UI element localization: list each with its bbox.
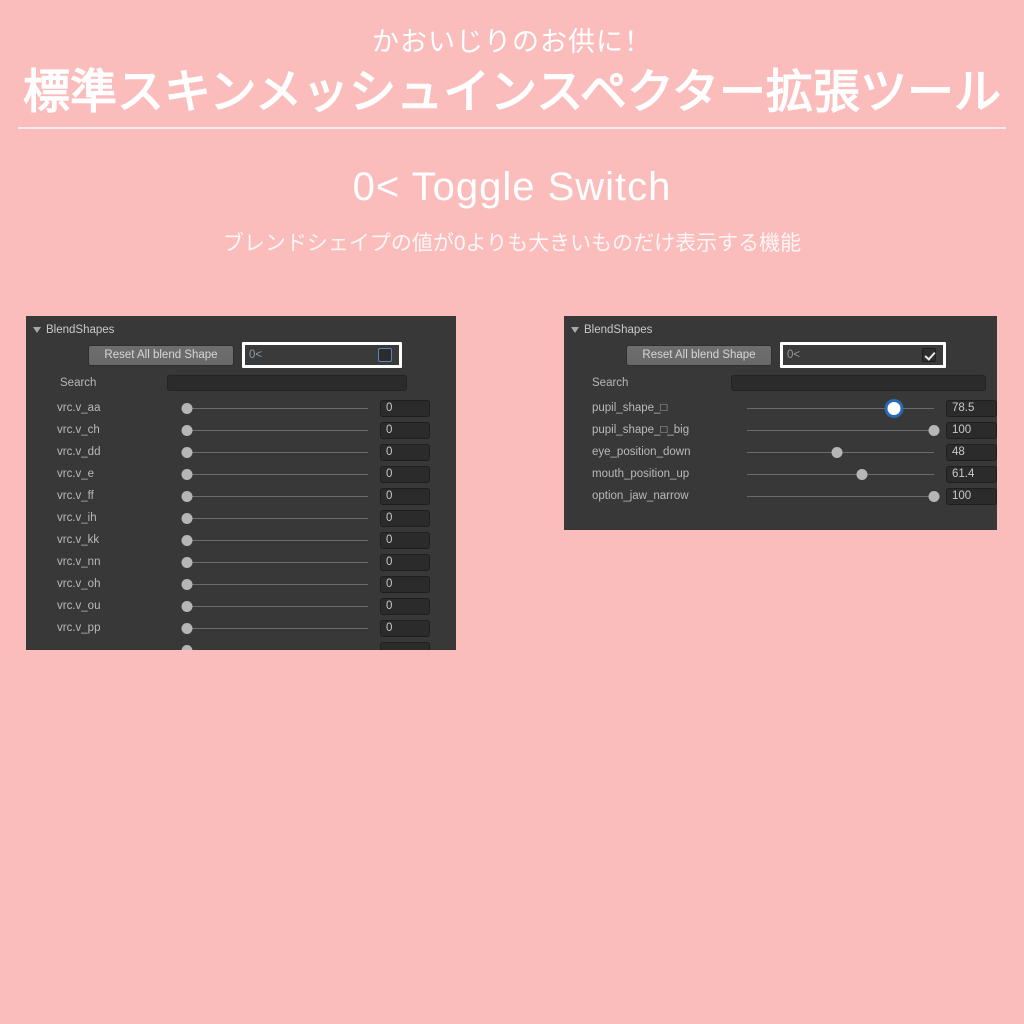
slider-handle[interactable]: [182, 645, 193, 651]
blendshape-slider[interactable]: [181, 555, 374, 569]
chevron-down-icon: [33, 327, 41, 333]
slider-handle[interactable]: [182, 491, 193, 502]
blendshape-name: vrc.v_aa: [26, 402, 181, 414]
slider-track: [187, 606, 368, 607]
blendshape-row: vrc.v_nn0: [26, 551, 456, 573]
blendshape-value-field[interactable]: 78.5: [946, 400, 997, 417]
blendshape-value-field[interactable]: 100: [946, 422, 997, 439]
blendshape-name: option_jaw_narrow: [564, 490, 741, 502]
blendshape-value-field[interactable]: 0: [380, 620, 430, 637]
blendshape-value-field[interactable]: 0: [380, 422, 430, 439]
zero-greater-toggle-highlight: 0<: [242, 342, 402, 368]
slider-handle[interactable]: [182, 623, 193, 634]
inspector-panel-left: BlendShapes Reset All blend Shape 0< Sea…: [26, 316, 456, 650]
zero-greater-toggle-label: 0<: [249, 349, 262, 361]
header-kicker: かおいじりのお供に！: [0, 26, 1024, 58]
slider-track: [187, 474, 368, 475]
slider-track: [187, 452, 368, 453]
slider-track: [747, 430, 934, 431]
search-label: Search: [564, 377, 731, 389]
blendshape-row: vrc.v_dd0: [26, 441, 456, 463]
section-title: 0< Toggle Switch: [0, 163, 1024, 211]
blendshapes-foldout[interactable]: BlendShapes: [564, 316, 997, 338]
blendshape-row: vrc.v_aa0: [26, 397, 456, 419]
zero-greater-checkbox[interactable]: [922, 348, 936, 362]
toolbar-row: Reset All blend Shape 0<: [564, 344, 997, 366]
blendshape-slider[interactable]: [181, 643, 374, 650]
blendshape-value-field[interactable]: 0: [380, 554, 430, 571]
blendshape-name: pupil_shape_□: [564, 402, 741, 414]
search-label: Search: [26, 377, 167, 389]
search-row: Search: [26, 374, 456, 392]
search-row: Search: [564, 374, 997, 392]
slider-track: [187, 496, 368, 497]
zero-greater-toggle-highlight: 0<: [780, 342, 946, 368]
chevron-down-icon: [571, 327, 579, 333]
title-divider: [18, 127, 1006, 129]
blendshape-name: mouth_position_up: [564, 468, 741, 480]
blendshape-slider[interactable]: [181, 489, 374, 503]
blendshape-value-field[interactable]: [380, 642, 430, 651]
blendshapes-foldout[interactable]: BlendShapes: [26, 316, 456, 338]
slider-track: [747, 474, 934, 475]
slider-handle[interactable]: [182, 469, 193, 480]
blendshape-slider[interactable]: [181, 445, 374, 459]
blendshape-slider[interactable]: [181, 423, 374, 437]
blendshape-value-field[interactable]: 61.4: [946, 466, 997, 483]
blendshape-value-field[interactable]: 0: [380, 444, 430, 461]
slider-handle[interactable]: [182, 535, 193, 546]
blendshape-row: vrc.v_ih0: [26, 507, 456, 529]
zero-greater-checkbox[interactable]: [378, 348, 392, 362]
slider-handle[interactable]: [182, 447, 193, 458]
blendshape-value-field[interactable]: 0: [380, 576, 430, 593]
blendshape-name: vrc.v_ch: [26, 424, 181, 436]
slider-track: [187, 584, 368, 585]
blendshape-value-field[interactable]: 0: [380, 532, 430, 549]
blendshape-name: vrc.v_oh: [26, 578, 181, 590]
blendshape-row: vrc.v_kk0: [26, 529, 456, 551]
blendshape-value-field[interactable]: 48: [946, 444, 997, 461]
zero-greater-toggle-row[interactable]: 0<: [783, 345, 943, 365]
slider-track: [187, 408, 368, 409]
blendshape-slider[interactable]: [181, 599, 374, 613]
blendshape-name: vrc.v_e: [26, 468, 181, 480]
blendshape-row: vrc.v_e0: [26, 463, 456, 485]
blendshape-row: vrc.v_ch0: [26, 419, 456, 441]
slider-track: [187, 540, 368, 541]
blendshape-slider[interactable]: [181, 401, 374, 415]
toolbar-row: Reset All blend Shape 0<: [26, 344, 456, 366]
slider-track: [187, 562, 368, 563]
blendshape-slider[interactable]: [741, 423, 940, 437]
inspector-panel-right: BlendShapes Reset All blend Shape 0< Sea…: [564, 316, 997, 530]
slider-handle[interactable]: [929, 491, 940, 502]
blendshape-row: vrc.v_oh0: [26, 573, 456, 595]
search-input[interactable]: [731, 375, 986, 391]
blendshape-row: vrc.v_ff0: [26, 485, 456, 507]
zero-greater-toggle-label: 0<: [787, 349, 800, 361]
blendshape-row: vrc.v_pp0: [26, 617, 456, 639]
slider-handle[interactable]: [182, 513, 193, 524]
blendshape-slider[interactable]: [741, 489, 940, 503]
blendshape-row: option_jaw_narrow100: [564, 485, 997, 507]
foldout-label: BlendShapes: [584, 324, 652, 336]
reset-all-blendshape-button[interactable]: Reset All blend Shape: [88, 345, 234, 366]
zero-greater-toggle-row[interactable]: 0<: [245, 345, 399, 365]
blendshape-name: vrc.v_ih: [26, 512, 181, 524]
blendshape-list-right: pupil_shape_□78.5pupil_shape_□_big100eye…: [564, 397, 997, 507]
blendshape-row: eye_position_down48: [564, 441, 997, 463]
slider-handle[interactable]: [856, 469, 867, 480]
blendshape-row: vrc.v_ou0: [26, 595, 456, 617]
blendshape-slider[interactable]: [741, 467, 940, 481]
blendshape-slider[interactable]: [741, 445, 940, 459]
blendshape-slider[interactable]: [741, 401, 940, 415]
blendshape-value-field[interactable]: 0: [380, 510, 430, 527]
search-input[interactable]: [167, 375, 407, 391]
blendshape-value-field[interactable]: 0: [380, 400, 430, 417]
blendshape-row: pupil_shape_□_big100: [564, 419, 997, 441]
blendshape-name: vrc.v_pp: [26, 622, 181, 634]
slider-handle[interactable]: [182, 557, 193, 568]
blendshape-name: vrc.v_ou: [26, 600, 181, 612]
blendshape-slider[interactable]: [181, 511, 374, 525]
slider-handle[interactable]: [887, 402, 900, 415]
blendshape-value-field[interactable]: 0: [380, 466, 430, 483]
slider-track: [747, 408, 934, 409]
slider-handle[interactable]: [182, 601, 193, 612]
blendshape-name: pupil_shape_□_big: [564, 424, 741, 436]
blendshape-name: eye_position_down: [564, 446, 741, 458]
blendshape-row: [26, 639, 456, 650]
slider-track: [747, 496, 934, 497]
slider-track: [187, 628, 368, 629]
slider-handle[interactable]: [182, 403, 193, 414]
reset-all-blendshape-button[interactable]: Reset All blend Shape: [626, 345, 772, 366]
blendshape-value-field[interactable]: 0: [380, 598, 430, 615]
blendshape-slider[interactable]: [181, 577, 374, 591]
blendshape-slider[interactable]: [181, 533, 374, 547]
slider-track: [187, 430, 368, 431]
blendshape-name: vrc.v_dd: [26, 446, 181, 458]
blendshape-row: pupil_shape_□78.5: [564, 397, 997, 419]
page-title: 標準スキンメッシュインスペクター拡張ツール: [0, 64, 1024, 120]
blendshape-value-field[interactable]: 100: [946, 488, 997, 505]
blendshape-name: vrc.v_nn: [26, 556, 181, 568]
slider-handle[interactable]: [929, 425, 940, 436]
slider-handle[interactable]: [831, 447, 842, 458]
blendshape-name: vrc.v_ff: [26, 490, 181, 502]
slider-handle[interactable]: [182, 579, 193, 590]
blendshape-slider[interactable]: [181, 467, 374, 481]
section-subtitle: ブレンドシェイプの値が0よりも大きいものだけ表示する機能: [0, 231, 1024, 256]
blendshape-slider[interactable]: [181, 621, 374, 635]
slider-track: [187, 650, 368, 651]
blendshape-row: mouth_position_up61.4: [564, 463, 997, 485]
blendshape-value-field[interactable]: 0: [380, 488, 430, 505]
blendshape-name: vrc.v_kk: [26, 534, 181, 546]
blendshape-list-left: vrc.v_aa0vrc.v_ch0vrc.v_dd0vrc.v_e0vrc.v…: [26, 397, 456, 650]
foldout-label: BlendShapes: [46, 324, 114, 336]
slider-handle[interactable]: [182, 425, 193, 436]
slider-track: [187, 518, 368, 519]
